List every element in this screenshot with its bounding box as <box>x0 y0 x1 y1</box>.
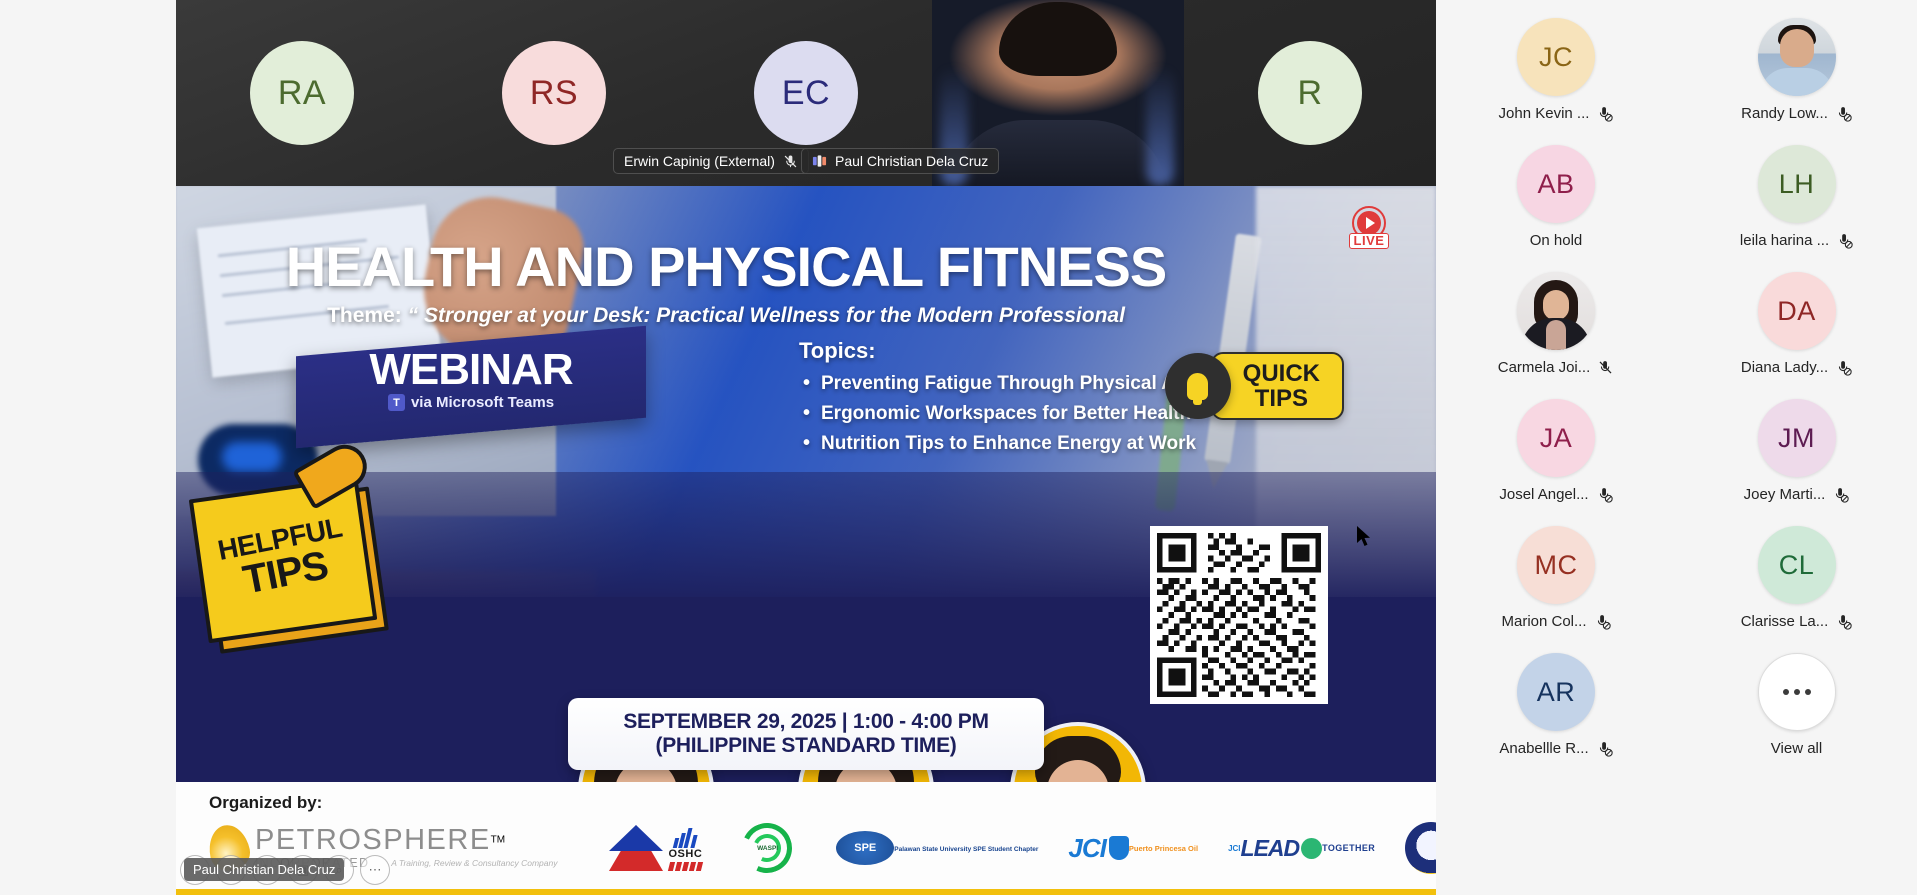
mic-off-icon <box>1596 486 1613 503</box>
participant-name: Randy Low... <box>1741 105 1828 122</box>
oshc-bars-icon <box>668 826 702 848</box>
quick-tips-plate: QUICK TIPS <box>1211 352 1344 420</box>
participant-name: Carmela Joi... <box>1498 359 1591 376</box>
avatar: AR <box>1517 653 1595 731</box>
mic-off-icon <box>1835 359 1852 376</box>
helpful-tips-note: HELPFUL TIPS <box>189 474 394 658</box>
avatar: RS <box>502 41 606 145</box>
microsoft-teams-icon: T <box>388 394 405 411</box>
teams-meeting-window: RA RS EC R <box>0 0 1917 895</box>
note-face: HELPFUL TIPS <box>189 476 378 643</box>
quick-tips-line1: QUICK <box>1243 361 1320 386</box>
participants-grid: JC John Kevin ... Randy Low... <box>1436 18 1917 757</box>
mic-off-icon <box>1596 740 1613 757</box>
avatar: DA <box>1758 272 1836 350</box>
participant-tile[interactable]: CL Clarisse La... <box>1677 526 1917 630</box>
trademark-symbol: TM <box>491 835 505 846</box>
participant-status: On hold <box>1530 232 1583 249</box>
avatar-photo <box>1517 272 1595 350</box>
filmstrip-tile[interactable]: RA <box>176 0 428 186</box>
live-label: LIVE <box>1349 233 1390 249</box>
mic-off-icon <box>1596 105 1613 122</box>
webinar-title: WEBINAR <box>296 347 646 393</box>
organized-by-label: Organized by: <box>209 793 322 813</box>
participant-name: Josel Angel... <box>1499 486 1588 503</box>
quick-tips-line2: TIPS <box>1243 386 1320 411</box>
participant-tile[interactable]: LH leila harina ... <box>1677 145 1917 249</box>
participant-name: Marion Col... <box>1501 613 1586 630</box>
participant-tile[interactable]: MC Marion Col... <box>1436 526 1676 630</box>
participant-name: Anabellle R... <box>1499 740 1588 757</box>
quick-tips-badge: QUICK TIPS <box>1165 352 1344 420</box>
mouse-cursor <box>1356 525 1374 549</box>
participant-tile[interactable]: Carmela Joi... <box>1436 272 1676 376</box>
qr-code-image <box>1157 533 1321 697</box>
participants-rail: JC John Kevin ... Randy Low... <box>1436 0 1917 895</box>
avatar: JC <box>1517 18 1595 96</box>
more-options-button[interactable]: ⋯ <box>360 855 390 885</box>
participant-name-pill: Erwin Capinig (External) <box>613 148 809 174</box>
meeting-stage: RA RS EC R <box>176 0 1436 895</box>
participant-tile[interactable]: AR Anabellle R... <box>1436 653 1676 757</box>
mic-off-icon <box>1835 613 1852 630</box>
presenter-badge-icon <box>812 154 827 169</box>
presenter-tooltip: Paul Christian Dela Cruz <box>184 858 344 881</box>
participant-tile[interactable]: AB On hold <box>1436 145 1676 249</box>
avatar: CL <box>1758 526 1836 604</box>
play-icon <box>1357 211 1381 235</box>
video-backlight <box>1146 66 1174 186</box>
participant-name: Erwin Capinig (External) <box>624 153 775 169</box>
avatar: EC <box>754 41 858 145</box>
presenting-indicator-bar <box>176 889 1436 895</box>
participant-tile[interactable]: DA Diana Lady... <box>1677 272 1917 376</box>
participant-filmstrip: RA RS EC R <box>176 0 1436 186</box>
mic-off-icon <box>1835 105 1852 122</box>
presenter-toolbar: ‹ › ✎ ▣ ⌕ ⋯ Paul Christian Dela Cruz <box>176 847 1436 887</box>
participant-name: Diana Lady... <box>1741 359 1828 376</box>
slide-headline: HEALTH AND PHYSICAL FITNESS <box>176 234 1276 299</box>
mic-off-icon <box>1836 232 1853 249</box>
shared-content-slide[interactable]: LIVE HEALTH AND PHYSICAL FITNESS Theme: … <box>176 186 1436 782</box>
view-all-label: View all <box>1771 740 1822 757</box>
avatar: LH <box>1758 145 1836 223</box>
participant-name: John Kevin ... <box>1499 105 1590 122</box>
participant-name: Joey Marti... <box>1744 486 1826 503</box>
participant-tile[interactable]: Randy Low... <box>1677 18 1917 122</box>
qr-code <box>1150 526 1328 704</box>
avatar-photo <box>1758 18 1836 96</box>
date-line-1: SEPTEMBER 29, 2025 | 1:00 - 4:00 PM <box>578 710 1034 734</box>
topic-item: Nutrition Tips to Enhance Energy at Work <box>799 429 1230 459</box>
theme-label: Theme: <box>327 304 402 327</box>
webinar-platform-label: via Microsoft Teams <box>411 394 554 411</box>
more-participants-icon <box>1758 653 1836 731</box>
participant-tile[interactable]: JC John Kevin ... <box>1436 18 1676 122</box>
avatar: JM <box>1758 399 1836 477</box>
date-line-2: (PHILIPPINE STANDARD TIME) <box>578 734 1034 758</box>
view-all-participants-button[interactable]: View all <box>1677 653 1917 757</box>
avatar: JA <box>1517 399 1595 477</box>
participant-name: leila harina ... <box>1740 232 1829 249</box>
mic-off-icon <box>1597 359 1614 376</box>
participant-tile[interactable]: JA Josel Angel... <box>1436 399 1676 503</box>
participant-name-pill: Paul Christian Dela Cruz <box>801 148 999 174</box>
avatar: RA <box>250 41 354 145</box>
mic-off-icon <box>1832 486 1849 503</box>
avatar: AB <box>1517 145 1595 223</box>
theme-text: “ Stronger at your Desk: Practical Welln… <box>408 304 1125 327</box>
live-badge: LIVE <box>1347 203 1391 251</box>
mic-off-icon <box>1594 613 1611 630</box>
date-banner: SEPTEMBER 29, 2025 | 1:00 - 4:00 PM (PHI… <box>568 698 1044 770</box>
avatar: MC <box>1517 526 1595 604</box>
webinar-platform: T via Microsoft Teams <box>296 394 646 411</box>
participant-name: Paul Christian Dela Cruz <box>835 153 988 169</box>
avatar: R <box>1258 41 1362 145</box>
mic-off-icon <box>783 154 798 169</box>
slide-theme: Theme: “ Stronger at your Desk: Practica… <box>176 304 1276 328</box>
participant-tile[interactable]: JM Joey Marti... <box>1677 399 1917 503</box>
participant-name: Clarisse La... <box>1741 613 1829 630</box>
filmstrip-tile[interactable]: R <box>1184 0 1436 186</box>
lightbulb-icon <box>1165 353 1231 419</box>
